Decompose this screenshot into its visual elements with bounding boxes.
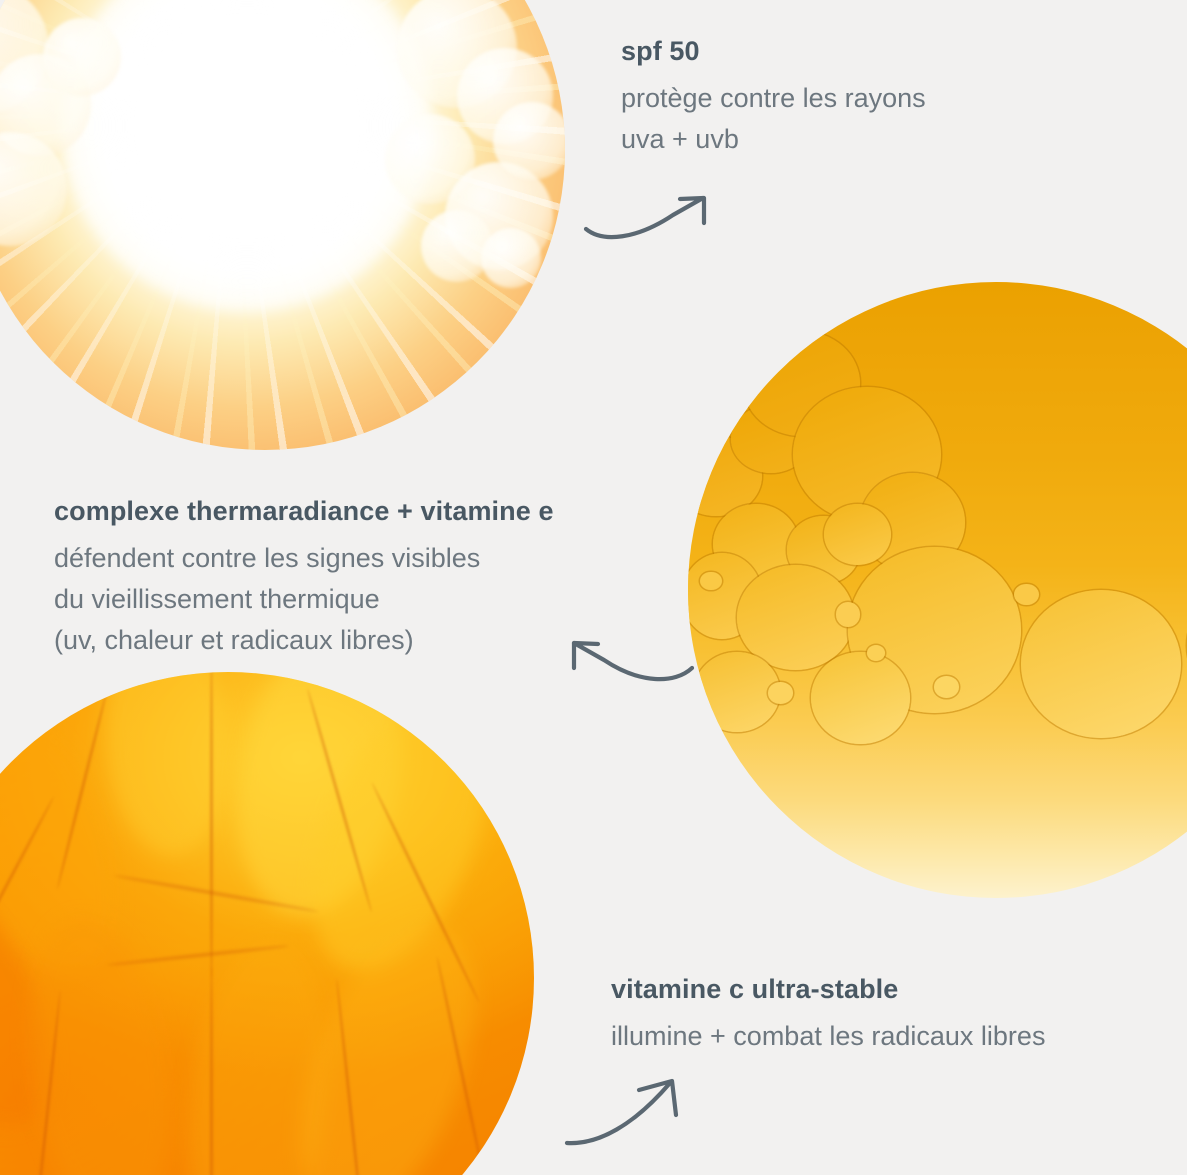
oil-droplet <box>811 652 910 744</box>
benefit-block-vitamine-c: vitamine c ultra-stable illumine + comba… <box>611 972 1045 1057</box>
bokeh-circle <box>43 18 121 96</box>
benefit-line: défendent contre les signes visibles <box>54 538 554 579</box>
bokeh-circle <box>493 102 565 180</box>
oil-droplet-small <box>934 676 959 698</box>
oil-droplet-small <box>1014 584 1039 606</box>
citrus-vein <box>210 966 213 1175</box>
curved-arrow-up-right-icon <box>560 1068 700 1153</box>
oil-droplets-photo <box>688 282 1187 898</box>
benefit-heading-vitamine-c: vitamine c ultra-stable <box>611 972 1045 1006</box>
curved-arrow-up-left-icon <box>558 630 703 700</box>
benefit-line: protège contre les rayons <box>621 78 926 119</box>
oil-droplet-small <box>768 682 793 704</box>
benefit-line: illumine + combat les radicaux libres <box>611 1016 1045 1057</box>
benefit-block-complexe-thermaradiance: complexe thermaradiance + vitamine e déf… <box>54 494 554 661</box>
benefit-line: du vieillissement thermique <box>54 579 554 620</box>
oil-droplet-small <box>700 572 722 590</box>
benefit-heading-complexe-thermaradiance: complexe thermaradiance + vitamine e <box>54 494 554 528</box>
sun-burst-photo <box>0 0 565 450</box>
citrus-pulp-photo <box>0 672 534 1175</box>
ingredient-benefits-infographic: spf 50 protège contre les rayons uva + u… <box>0 0 1187 1175</box>
bokeh-circle <box>481 228 541 288</box>
benefit-line: (uv, chaleur et radicaux libres) <box>54 620 554 661</box>
curved-arrow-up-right-icon <box>575 185 720 255</box>
benefit-line: uva + uvb <box>621 119 926 160</box>
benefit-heading-spf: spf 50 <box>621 34 926 68</box>
oil-droplet <box>1021 590 1181 738</box>
benefit-block-spf: spf 50 protège contre les rayons uva + u… <box>621 34 926 160</box>
citrus-vein <box>210 672 213 978</box>
citrus-segment <box>98 672 236 860</box>
oil-droplet <box>824 504 892 566</box>
